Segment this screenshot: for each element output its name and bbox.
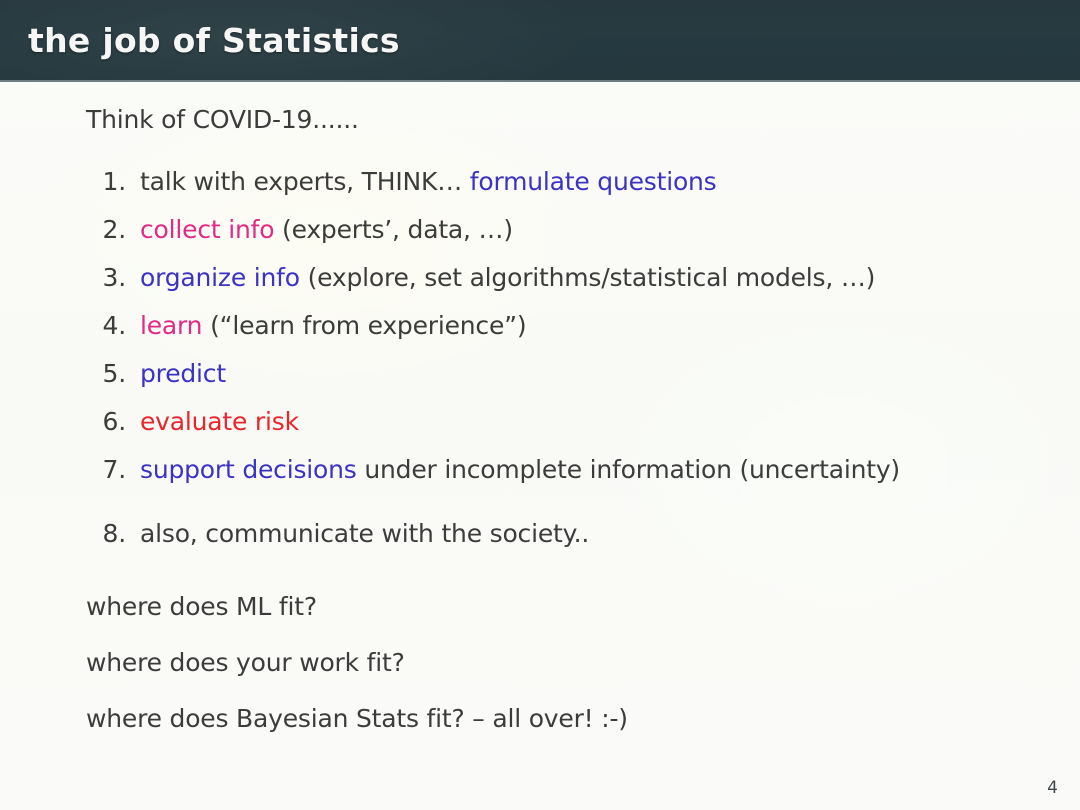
list-item-segment: learn — [140, 311, 202, 340]
list-item-text: also, communicate with the society.. — [140, 519, 1026, 548]
list-item-number: 8. — [86, 519, 126, 548]
page-number: 4 — [1047, 778, 1058, 798]
list-item-text: organize info (explore, set algorithms/s… — [140, 263, 1026, 292]
list-item-segment: talk with experts, THINK… — [140, 167, 470, 196]
list-item-number: 2. — [86, 215, 126, 244]
list-item: 1.talk with experts, THINK… formulate qu… — [86, 167, 1026, 215]
list-item: 6.evaluate risk — [86, 407, 1026, 455]
closing-line: where does ML fit? — [86, 592, 1026, 648]
list-item: 5.predict — [86, 359, 1026, 407]
list-item-number: 1. — [86, 167, 126, 196]
list-item-number: 7. — [86, 455, 126, 484]
list-item-segment: (“learn from experience”) — [202, 311, 526, 340]
list-item-number: 5. — [86, 359, 126, 388]
list-item-segment: collect info — [140, 215, 274, 244]
slide-header-bar: the job of Statistics — [0, 0, 1080, 82]
list-item-number: 6. — [86, 407, 126, 436]
list-item: 4.learn (“learn from experience”) — [86, 311, 1026, 359]
numbered-list: 1.talk with experts, THINK… formulate qu… — [86, 167, 1026, 567]
closing-line: where does your work fit? — [86, 648, 1026, 704]
presentation-slide: the job of Statistics Think of COVID-19.… — [0, 0, 1080, 810]
list-item-number: 4. — [86, 311, 126, 340]
list-item-segment: organize info — [140, 263, 300, 292]
list-item: 3.organize info (explore, set algorithms… — [86, 263, 1026, 311]
list-item: 8.also, communicate with the society.. — [86, 519, 1026, 567]
list-item-segment: also, communicate with the society.. — [140, 519, 589, 548]
list-item-text: predict — [140, 359, 1026, 388]
list-item-text: collect info (experts’, data, …) — [140, 215, 1026, 244]
list-item-segment: (explore, set algorithms/statistical mod… — [300, 263, 875, 292]
list-item-segment: evaluate risk — [140, 407, 299, 436]
list-item-text: support decisions under incomplete infor… — [140, 455, 1026, 484]
list-item-text: talk with experts, THINK… formulate ques… — [140, 167, 1026, 196]
list-item-number: 3. — [86, 263, 126, 292]
slide-content: Think of COVID-19...... 1.talk with expe… — [0, 82, 1080, 810]
closing-questions: where does ML fit?where does your work f… — [86, 592, 1026, 760]
closing-line: where does Bayesian Stats fit? – all ove… — [86, 704, 1026, 760]
intro-line: Think of COVID-19...... — [86, 105, 359, 134]
list-item-segment: under incomplete information (uncertaint… — [357, 455, 900, 484]
list-item-segment: predict — [140, 359, 226, 388]
list-item-text: learn (“learn from experience”) — [140, 311, 1026, 340]
list-item: 7.support decisions under incomplete inf… — [86, 455, 1026, 503]
list-item-segment: support decisions — [140, 455, 357, 484]
list-item-segment: (experts’, data, …) — [274, 215, 513, 244]
list-item-text: evaluate risk — [140, 407, 1026, 436]
slide-title: the job of Statistics — [28, 21, 400, 60]
list-item: 2.collect info (experts’, data, …) — [86, 215, 1026, 263]
list-item-segment: formulate questions — [470, 167, 717, 196]
